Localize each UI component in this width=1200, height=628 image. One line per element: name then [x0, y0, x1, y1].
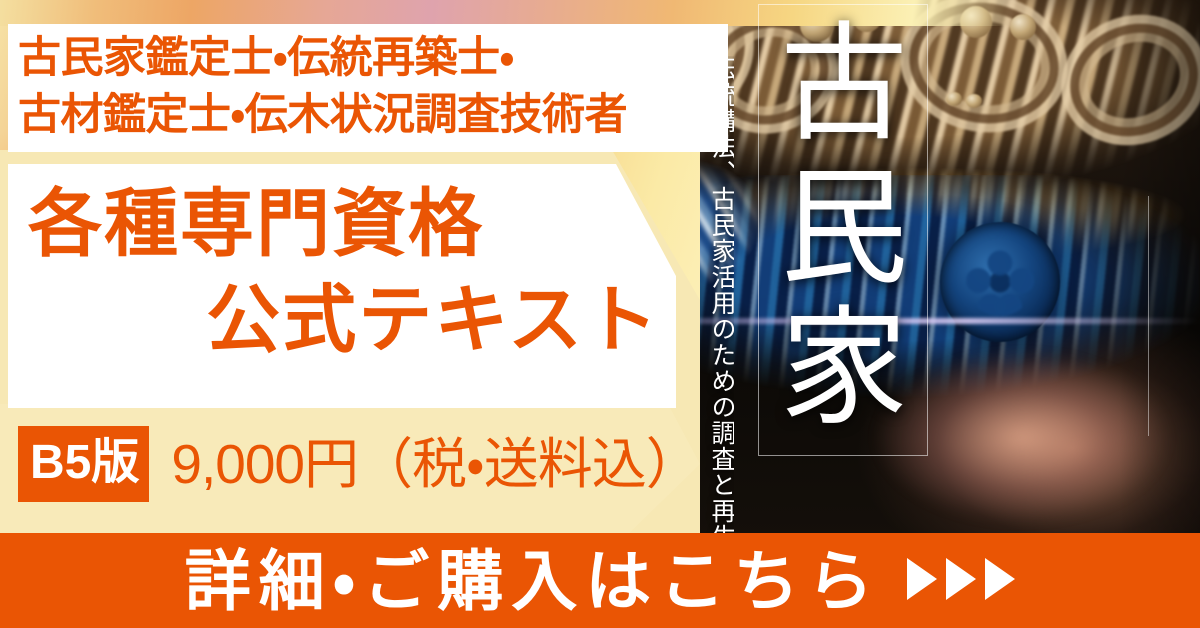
cta-arrow-group — [907, 558, 1015, 600]
cta-bar[interactable]: 詳細・ご購入はこちら — [0, 533, 1200, 628]
cover-rule-line — [1148, 196, 1149, 436]
price-row: B5版 9,000円（税・送料込） — [18, 424, 700, 504]
arrow-right-icon — [946, 558, 976, 600]
subheadline-line-2: 公式テキスト — [18, 272, 668, 368]
promo-banner[interactable]: 古 民 家 伝統構法、古民家活用のための調査と再生の 古民家鑑定士・伝統再築士・… — [0, 0, 1200, 628]
subheadline: 各種専門資格 公式テキスト — [18, 176, 668, 368]
top-gradient-strip — [0, 0, 1200, 26]
arrow-right-icon — [907, 558, 937, 600]
book-title-frame: 古 民 家 — [758, 4, 928, 456]
price-text: 9,000円（税・送料込） — [171, 437, 699, 492]
headline-line-2: 古材鑑定士・伝木状況調査技術者 — [18, 87, 724, 144]
arrow-right-icon — [985, 558, 1015, 600]
format-badge: B5版 — [18, 426, 149, 502]
cta-label: 詳細・ご購入はこちら — [185, 548, 881, 614]
book-title-char-2: 民 — [759, 165, 929, 293]
headline: 古民家鑑定士・伝統再築士・ 古材鑑定士・伝木状況調査技術者 — [18, 30, 724, 144]
book-title-char-3: 家 — [759, 305, 929, 433]
subheadline-line-1: 各種専門資格 — [18, 176, 668, 272]
book-title-char-1: 古 — [759, 21, 929, 149]
headline-line-1: 古民家鑑定士・伝統再築士・ — [18, 30, 724, 87]
